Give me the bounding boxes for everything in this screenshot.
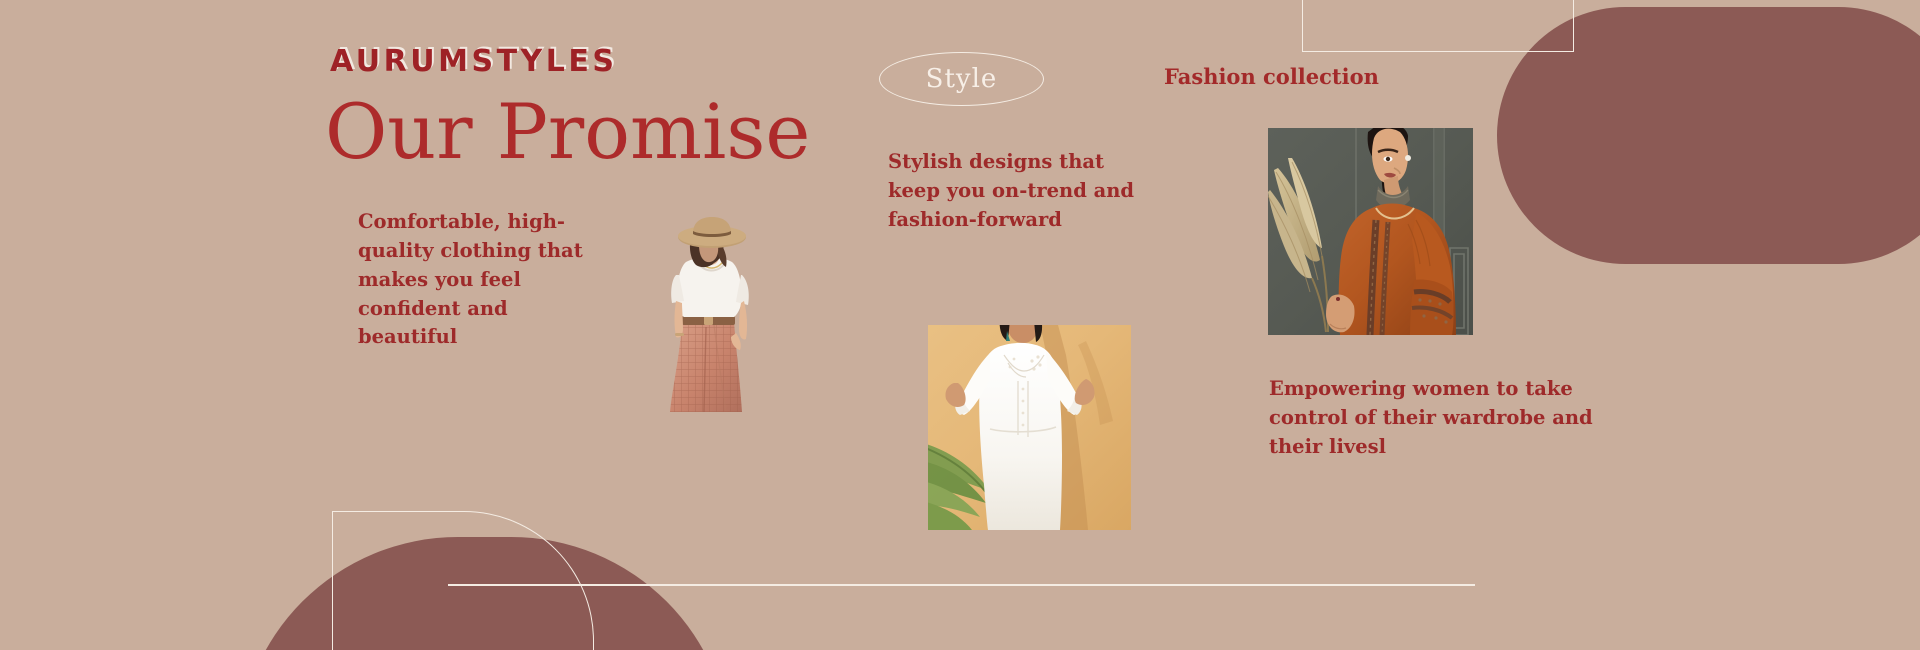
image-woman-in-white-kaftan [928,325,1131,530]
image-woman-in-hat-and-check-skirt [660,215,765,430]
style-badge-label: Style [926,64,998,94]
decor-line-frame-top-right [1302,0,1574,52]
decor-horizontal-rule [448,584,1475,586]
image-model-in-rust-embroidered-kurta [1268,128,1473,335]
page-title: Our Promise [325,92,810,172]
style-badge: Style [879,52,1044,106]
poster-canvas: AURUMSTYLES Our Promise Comfortable, hig… [0,0,1920,650]
decor-line-frame-bottom-left [332,511,594,650]
promise-description-left: Comfortable, high-quality clothing that … [358,208,613,352]
section-label-fashion-collection: Fashion collection [1164,64,1379,89]
promise-description-middle: Stylish designs that keep you on-trend a… [888,148,1138,235]
brand-logo: AURUMSTYLES [330,44,617,79]
promise-description-right: Empowering women to take control of thei… [1269,375,1599,462]
